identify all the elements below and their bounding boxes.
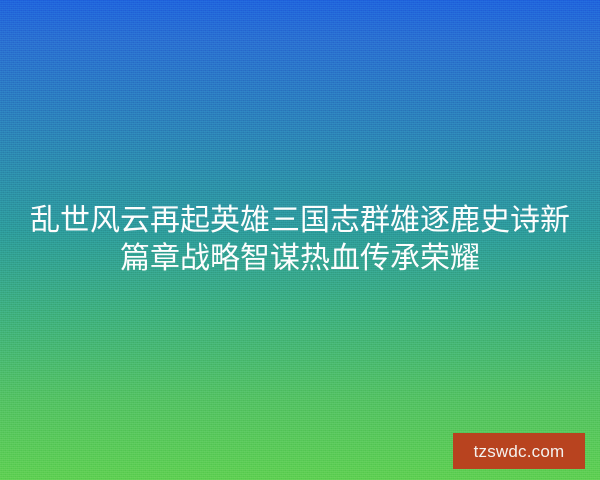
watermark-badge[interactable]: tzswdc.com <box>453 433 585 469</box>
watermark-label: tzswdc.com <box>474 443 565 460</box>
headline-text: 乱世风云再起英雄三国志群雄逐鹿史诗新篇章战略智谋热血传承荣耀 <box>24 202 576 278</box>
headline-container: 乱世风云再起英雄三国志群雄逐鹿史诗新篇章战略智谋热血传承荣耀 <box>0 0 600 480</box>
poster-canvas: 乱世风云再起英雄三国志群雄逐鹿史诗新篇章战略智谋热血传承荣耀 tzswdc.co… <box>0 0 600 480</box>
